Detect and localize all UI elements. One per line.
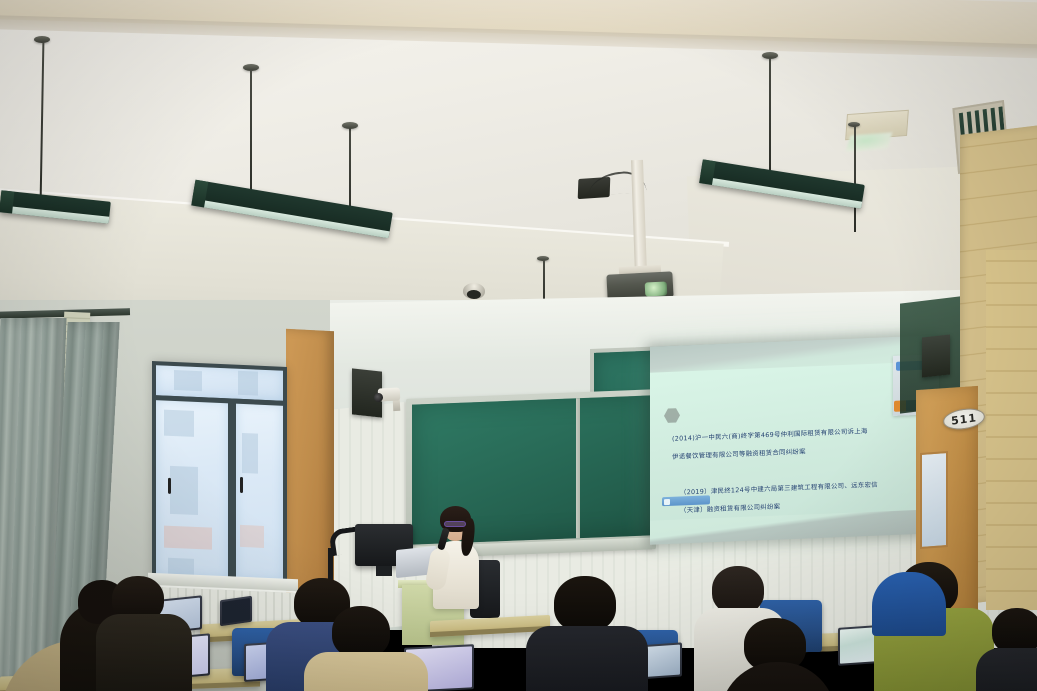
slide-text-line-3: （2019）津民终124号中建六局第三建筑工程有限公司、远东宏信 bbox=[680, 478, 921, 497]
projector-lens-icon bbox=[645, 281, 668, 296]
slide-text-line-1: (2014)沪一中民六(商)终字第469号仲利国际租赁有限公司诉上海 bbox=[672, 424, 921, 443]
student-laptop-3[interactable] bbox=[220, 596, 252, 626]
pendant-rod-4 bbox=[769, 58, 771, 180]
slide-text-line-4: （天津）融资租赁有限公司纠纷案 bbox=[680, 496, 921, 515]
wood-wall-panel-2 bbox=[986, 250, 1037, 610]
door-window bbox=[920, 451, 948, 549]
monitor-stand bbox=[376, 566, 392, 576]
slide-text-line-2: 伊诺餐饮管理有限公司等融资租赁合同纠纷案 bbox=[672, 442, 921, 461]
ceiling-light-glow bbox=[846, 132, 893, 151]
slide-logo-hexagon-icon bbox=[664, 407, 680, 424]
ceiling-dome-sensor bbox=[463, 283, 486, 300]
wall-speaker-right bbox=[922, 335, 950, 378]
pendant-mount-2b bbox=[342, 122, 358, 129]
classroom-window bbox=[152, 361, 287, 587]
pendant-rod-4b bbox=[854, 126, 856, 232]
pendant-rod-2 bbox=[250, 70, 252, 202]
presenter-glasses bbox=[444, 521, 466, 527]
classroom-photo: (2014)沪一中民六(商)终字第469号仲利国际租赁有限公司诉上海 伊诺餐饮管… bbox=[0, 0, 1037, 691]
room-number-label: 511 bbox=[951, 411, 978, 428]
